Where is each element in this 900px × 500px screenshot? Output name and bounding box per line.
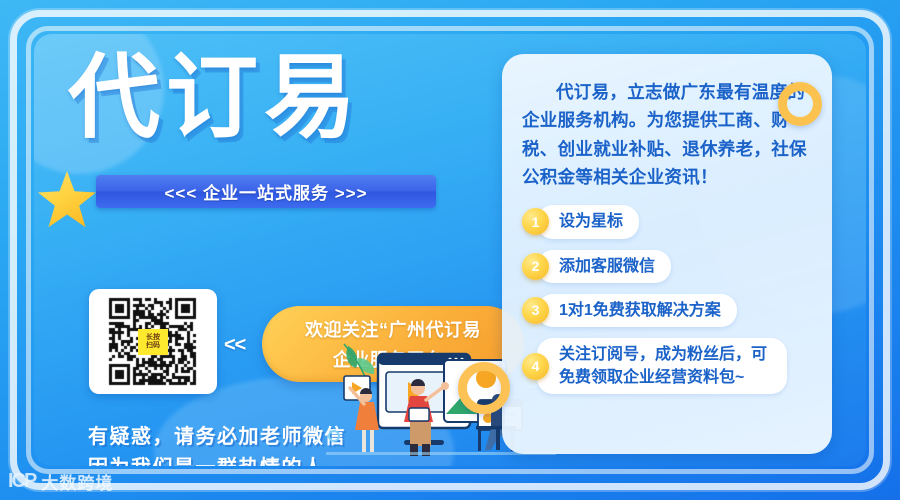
step-label: 设为星标 xyxy=(537,205,639,238)
subtitle-bar: <<< 企业一站式服务 >>> xyxy=(96,175,436,208)
qr-code-card[interactable]: 长按 扫码 xyxy=(89,289,217,394)
qr-center-label: 长按 扫码 xyxy=(138,329,168,355)
bottom-line-1: 有疑惑，请务必加老师微信 xyxy=(88,422,346,453)
poster-stage: 代订易 <<< 企业一站式服务 >>> 长按 扫码 << xyxy=(34,34,866,466)
step-number-badge: 3 xyxy=(522,297,549,324)
list-item[interactable]: 2 添加客服微信 xyxy=(522,250,814,283)
list-item[interactable]: 4 关注订阅号，成为粉丝后，可免费领取企业经营资料包~ xyxy=(522,338,814,394)
left-arrows-icon: << xyxy=(224,334,245,357)
steps-list: 1 设为星标 2 添加客服微信 3 1对1免费获取解决方案 4 关注订阅号，成为… xyxy=(522,205,814,394)
bottom-message: 有疑惑，请务必加老师微信 因为我们是一群热情的人 xyxy=(88,422,346,466)
ring-icon xyxy=(458,362,510,414)
watermark: ICP 大数跨境 xyxy=(8,469,113,494)
watermark-text: 大数跨境 xyxy=(41,469,113,494)
qr-center-line1: 长按 xyxy=(146,334,160,341)
left-column: 代订易 <<< 企业一站式服务 >>> 长按 扫码 << xyxy=(34,34,504,466)
qr-center-line2: 扫码 xyxy=(146,342,160,349)
intro-paragraph: 代订易，立志做广东最有温度的企业服务机构。为您提供工商、财税、创业就业补贴、退休… xyxy=(522,78,814,191)
bottom-line-2: 因为我们是一群热情的人 xyxy=(88,453,346,466)
qr-code[interactable]: 长按 扫码 xyxy=(95,295,211,388)
ring-icon xyxy=(778,82,822,126)
poster-title: 代订易 xyxy=(68,52,362,144)
poster-root: 代订易 <<< 企业一站式服务 >>> 长按 扫码 << xyxy=(0,0,900,500)
list-item[interactable]: 1 设为星标 xyxy=(522,205,814,238)
step-number-badge: 4 xyxy=(522,353,549,380)
step-label: 添加客服微信 xyxy=(537,250,671,283)
step-number-badge: 2 xyxy=(522,253,549,280)
step-label: 关注订阅号，成为粉丝后，可免费领取企业经营资料包~ xyxy=(537,338,787,394)
watermark-logo-icon: ICP xyxy=(8,470,35,493)
cta-line-1: 欢迎关注“广州代订易 xyxy=(305,316,481,342)
star-icon xyxy=(38,171,96,229)
subtitle-text: <<< 企业一站式服务 >>> xyxy=(164,179,367,204)
list-item[interactable]: 3 1对1免费获取解决方案 xyxy=(522,294,814,327)
step-label: 1对1免费获取解决方案 xyxy=(537,294,737,327)
